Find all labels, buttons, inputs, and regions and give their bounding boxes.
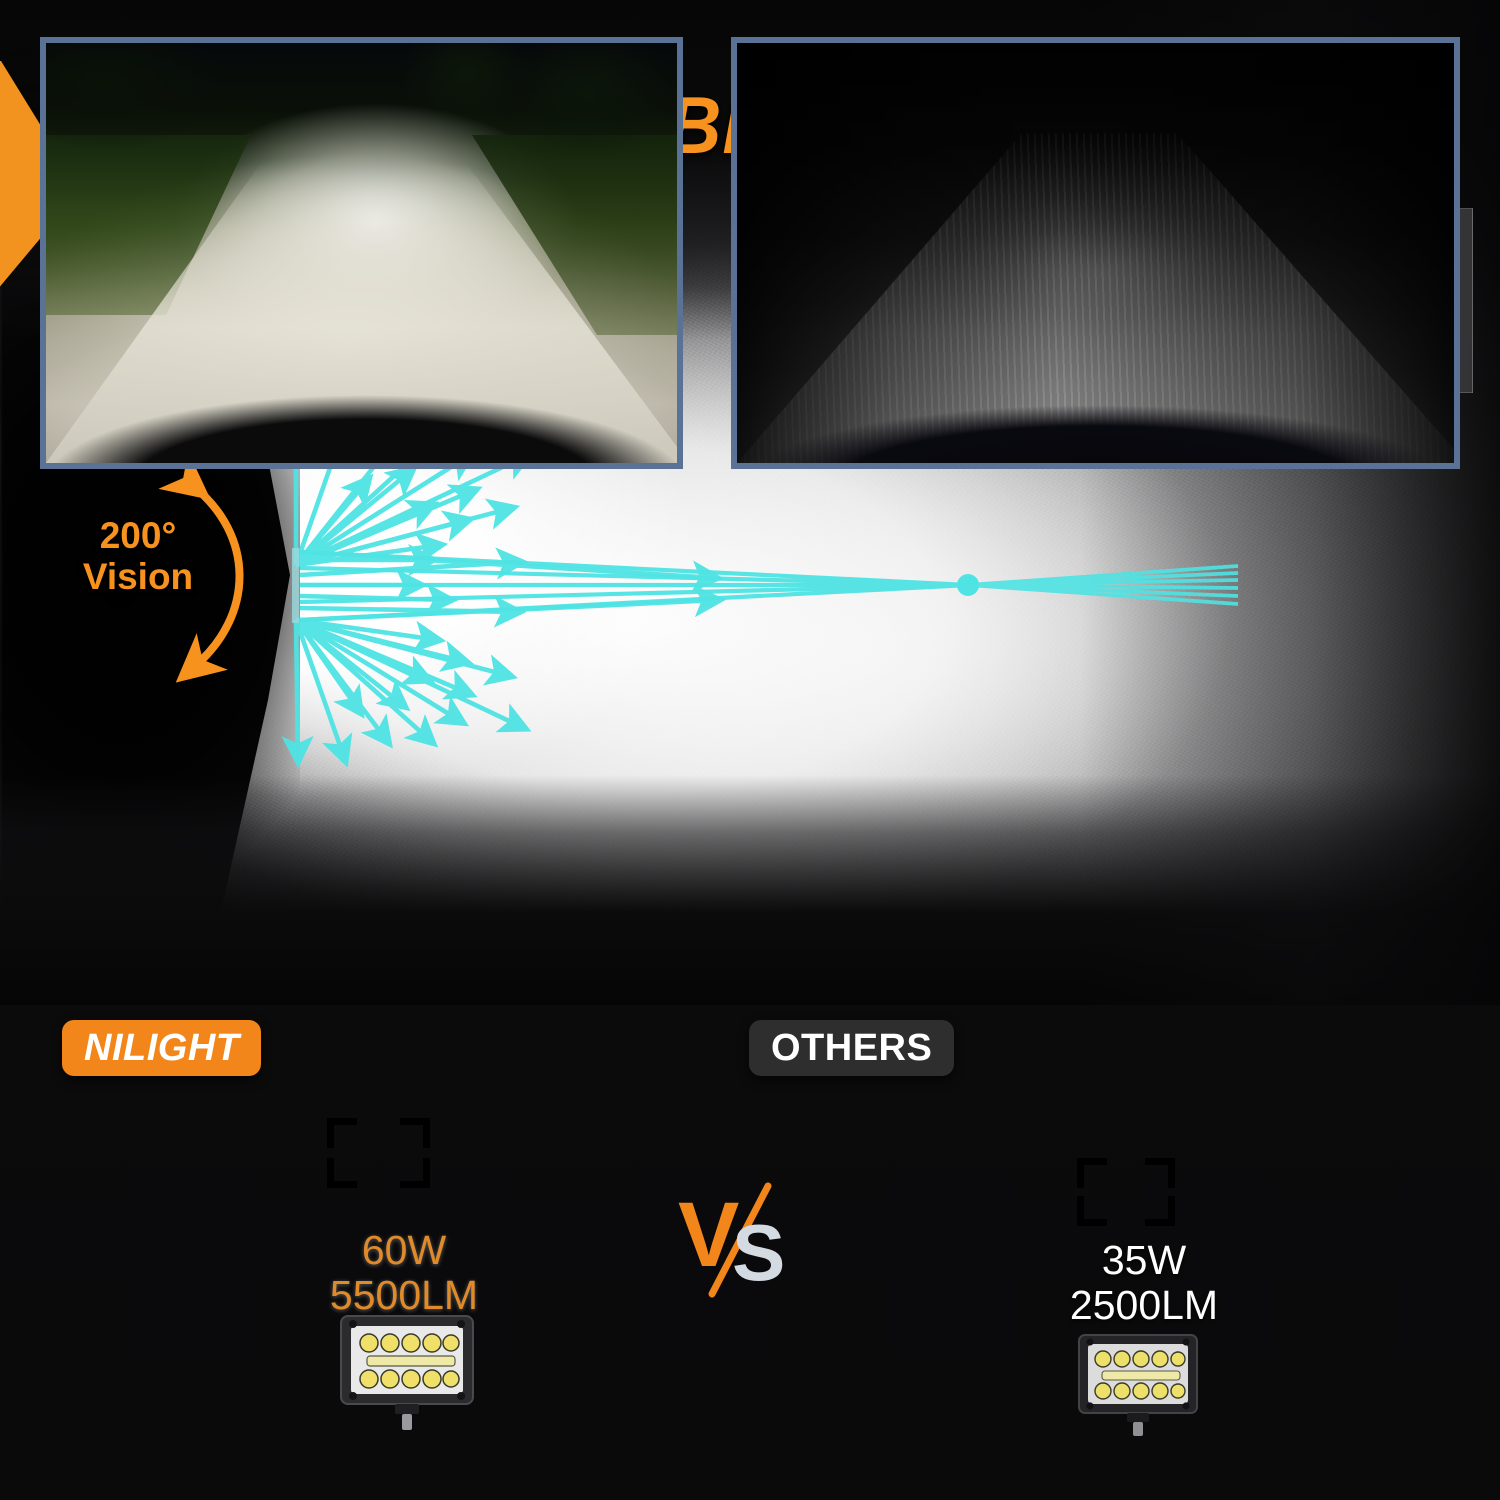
vs-letter-v: V xyxy=(678,1184,739,1286)
focus-bracket-bl xyxy=(1077,1196,1107,1226)
nilight-spec-caption: 60W 5500LM xyxy=(269,1228,539,1318)
badge-others: OTHERS xyxy=(749,1020,954,1076)
badge-nilight: NILIGHT xyxy=(62,1020,261,1076)
vehicle-hood xyxy=(46,373,677,463)
focus-bracket-br xyxy=(400,1158,430,1188)
trees-left xyxy=(46,43,346,183)
vehicle-hood xyxy=(737,383,1454,463)
focus-bracket-tl xyxy=(327,1118,357,1148)
focus-bracket-bl xyxy=(327,1158,357,1188)
comparison-panel-nilight xyxy=(40,37,683,469)
versus-graphic: V S xyxy=(676,1180,811,1300)
others-spec-caption: 35W 2500LM xyxy=(1009,1238,1279,1328)
focus-bracket-tl xyxy=(1077,1158,1107,1188)
focus-bracket-br xyxy=(1145,1196,1175,1226)
led-light-bar-pod-nilight xyxy=(327,1310,487,1430)
vs-letter-s: S xyxy=(732,1208,785,1297)
nilight-watt: 60W xyxy=(269,1228,539,1273)
comparison-panel-others xyxy=(731,37,1460,469)
focus-bracket-tr xyxy=(1145,1158,1175,1188)
others-night-road-photo xyxy=(737,43,1454,463)
product-infographic: UPGRADE BRIGHTER & WIDER 200° Vision UP … xyxy=(0,0,1500,1500)
led-light-bar-pod-others xyxy=(1069,1330,1209,1436)
vision-arc-arrow-icon xyxy=(150,455,290,695)
nilight-night-road-photo xyxy=(46,43,677,463)
others-lumens: 2500LM xyxy=(1009,1283,1279,1328)
others-watt: 35W xyxy=(1009,1238,1279,1283)
emitter-bar xyxy=(292,548,299,623)
focus-bracket-tr xyxy=(400,1118,430,1148)
